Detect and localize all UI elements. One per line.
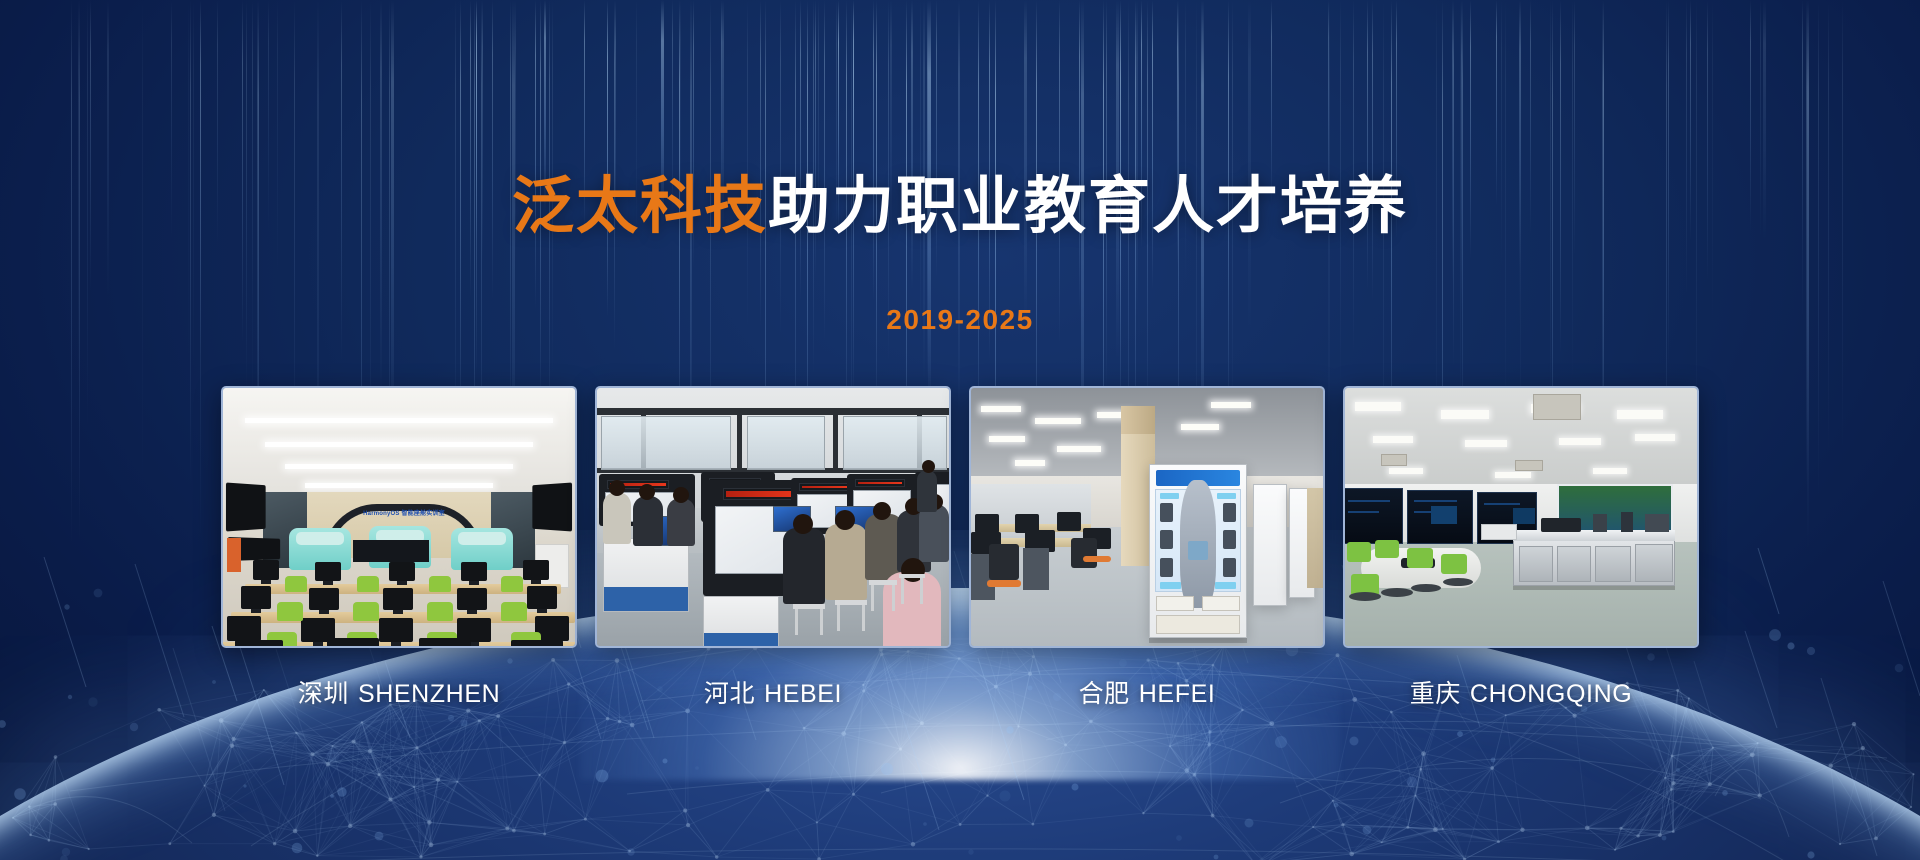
- speck: [292, 843, 303, 854]
- caption-en: HEBEI: [764, 680, 842, 708]
- speck: [923, 822, 927, 826]
- speck: [1350, 737, 1359, 746]
- speck: [130, 723, 138, 731]
- caption-cn: 重庆: [1410, 680, 1461, 708]
- site-card-hebei[interactable]: 河北HEBEI: [595, 386, 951, 710]
- speck: [627, 848, 634, 855]
- caption-hebei: 河北HEBEI: [595, 674, 951, 710]
- speck: [1457, 731, 1463, 737]
- speck: [1006, 726, 1013, 733]
- caption-cn: 合肥: [1079, 680, 1130, 708]
- speck: [0, 720, 6, 728]
- caption-en: HEFEI: [1139, 680, 1216, 708]
- speck: [1722, 790, 1728, 796]
- speck: [1245, 819, 1254, 828]
- speck: [1072, 784, 1079, 791]
- scene-shenzhen-classroom: HarmonyOS 智能座舱实训室: [223, 388, 575, 646]
- site-card-row: HarmonyOS 智能座舱实训室: [0, 386, 1920, 710]
- photo-chongqing[interactable]: [1343, 386, 1699, 648]
- speck: [1807, 851, 1814, 858]
- caption-cn: 深圳: [298, 680, 349, 708]
- caption-chongqing: 重庆CHONGQING: [1343, 674, 1699, 710]
- speck: [14, 788, 26, 800]
- speck: [1176, 835, 1182, 841]
- speck: [62, 848, 70, 856]
- speck: [1407, 777, 1417, 787]
- speck: [663, 759, 668, 764]
- speck: [1214, 855, 1219, 860]
- site-card-shenzhen[interactable]: HarmonyOS 智能座舱实训室: [221, 386, 577, 710]
- speck: [1491, 758, 1496, 763]
- photo-shenzhen[interactable]: HarmonyOS 智能座舱实训室: [221, 386, 577, 648]
- speck: [1363, 826, 1372, 835]
- scene-hebei-training-lab: [597, 388, 949, 646]
- speck: [448, 715, 454, 721]
- title-rest: 助力职业教育人才培养: [768, 172, 1408, 241]
- speck: [695, 766, 699, 770]
- scene-hefei-vehicle-lab: [971, 388, 1323, 646]
- speck: [1676, 768, 1680, 772]
- speck: [881, 763, 893, 775]
- site-card-chongqing[interactable]: 重庆CHONGQING: [1343, 386, 1699, 710]
- page-title: 泛太科技助力职业教育人才培养: [0, 174, 1920, 241]
- caption-en: SHENZHEN: [358, 680, 500, 708]
- scene-chongqing-smart-lab: [1345, 388, 1697, 646]
- caption-en: CHONGQING: [1470, 680, 1632, 708]
- speck: [596, 770, 609, 783]
- speck: [243, 784, 246, 787]
- year-range-label: 2019-2025: [0, 304, 1920, 336]
- speck: [375, 832, 384, 841]
- speck: [337, 787, 346, 796]
- promo-banner: 泛太科技助力职业教育人才培养 2019-2025 HarmonyOS 智能座舱实…: [0, 0, 1920, 860]
- speck: [460, 719, 467, 726]
- speck: [1275, 736, 1287, 748]
- speck: [968, 849, 973, 854]
- caption-shenzhen: 深圳SHENZHEN: [221, 674, 577, 710]
- site-card-hefei[interactable]: 合肥HEFEI: [969, 386, 1325, 710]
- speck: [1662, 836, 1667, 841]
- speck: [330, 794, 334, 798]
- photo-hefei[interactable]: [969, 386, 1325, 648]
- photo-hebei[interactable]: [595, 386, 951, 648]
- caption-hefei: 合肥HEFEI: [969, 674, 1325, 710]
- vehicle-control-cabinet: [1149, 464, 1247, 638]
- speck: [327, 750, 340, 763]
- speck: [1334, 803, 1339, 808]
- speck: [1000, 791, 1011, 802]
- caption-cn: 河北: [704, 680, 755, 708]
- classroom-sign-text: HarmonyOS 智能座舱实训室: [319, 508, 489, 517]
- title-brand: 泛太科技: [512, 172, 768, 241]
